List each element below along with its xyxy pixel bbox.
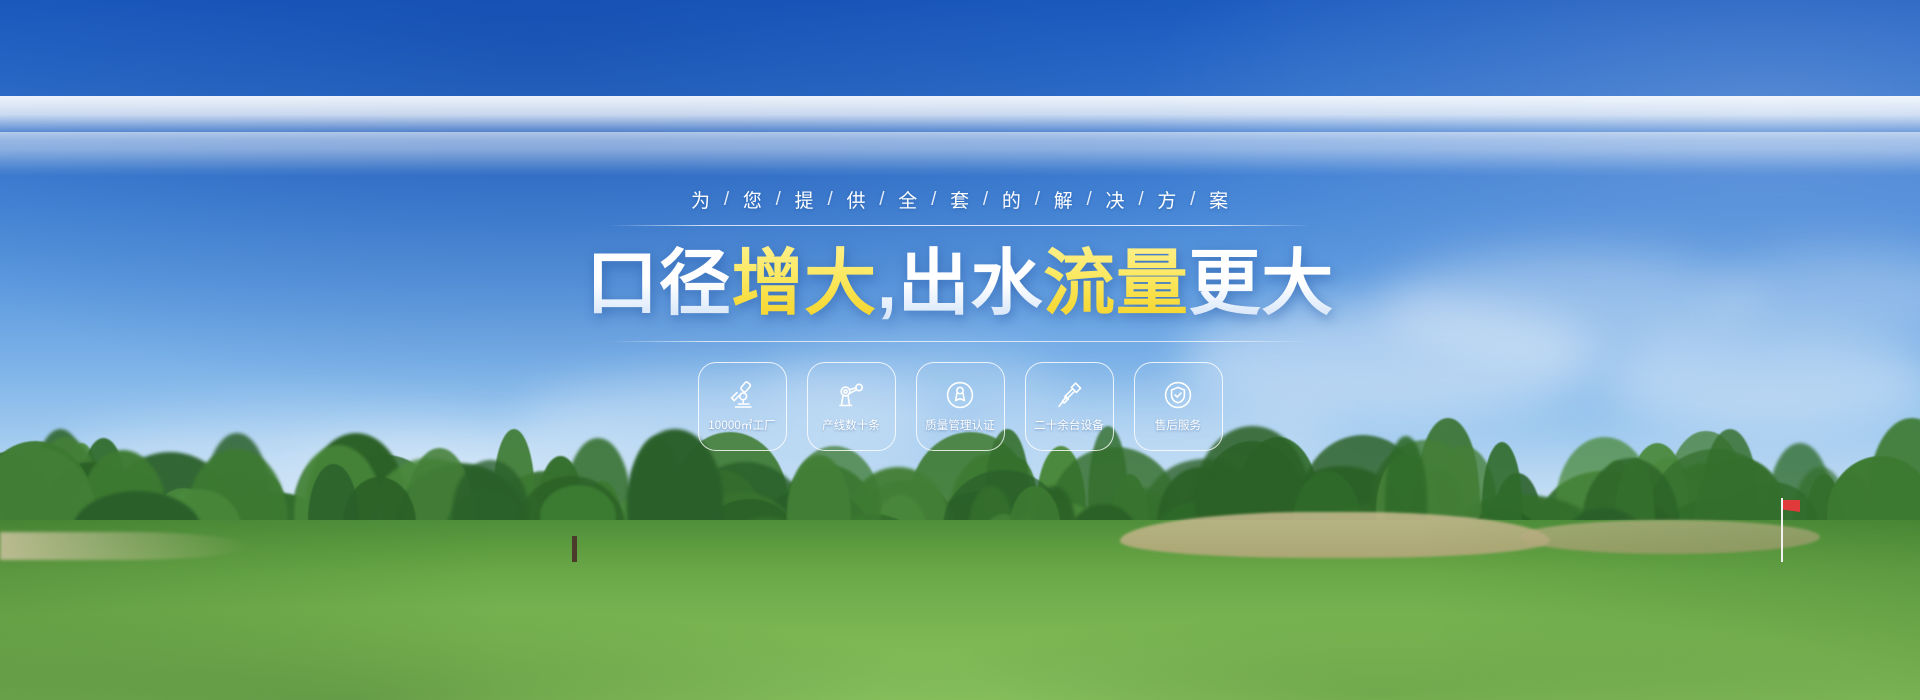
feature-badge-5[interactable]: 售后服务	[1134, 362, 1223, 451]
equipment-tool-icon	[1053, 379, 1085, 411]
hero-banner: INTEGRATED SEWAGE TREATMENT 为/您/提/供/全/套/…	[0, 0, 1920, 700]
subtitle-separator: /	[1138, 189, 1144, 211]
feature-badge-label: 质量管理认证	[925, 417, 995, 433]
certificate-medal-icon	[944, 379, 976, 411]
feature-badge-2[interactable]: 产线数十条	[807, 362, 896, 451]
english-heading: INTEGRATED SEWAGE TREATMENT	[0, 96, 1920, 178]
headline-segment: ,	[877, 244, 898, 325]
feature-badge-3[interactable]: 质量管理认证	[916, 362, 1005, 451]
feature-badge-label: 二十余台设备	[1034, 417, 1104, 433]
subtitle-char: 方	[1157, 186, 1177, 213]
subtitle-slash-line: 为/您/提/供/全/套/的/解/决/方/案	[691, 186, 1229, 213]
subtitle-char: 全	[898, 186, 918, 213]
subtitle-separator: /	[827, 189, 833, 211]
subtitle-separator: /	[1190, 189, 1196, 211]
headline-segment: 流量	[1043, 244, 1188, 325]
subtitle-separator: /	[724, 189, 730, 211]
shield-check-icon	[1162, 379, 1194, 411]
english-heading-line2: SEWAGE TREATMENT	[0, 132, 1920, 176]
banner-content: INTEGRATED SEWAGE TREATMENT 为/您/提/供/全/套/…	[0, 0, 1920, 700]
subtitle-separator: /	[776, 189, 782, 211]
feature-badge-label: 产线数十条	[822, 417, 880, 433]
headline-segment: 更大	[1189, 244, 1334, 325]
divider-top	[608, 225, 1312, 226]
subtitle-separator: /	[983, 189, 989, 211]
subtitle-char: 套	[950, 186, 970, 213]
subtitle-separator: /	[1035, 189, 1041, 211]
microscope-icon	[726, 379, 758, 411]
subtitle-separator: /	[931, 189, 937, 211]
subtitle-char: 决	[1106, 186, 1126, 213]
subtitle-separator: /	[1087, 189, 1093, 211]
subtitle-char: 提	[795, 186, 815, 213]
production-line-icon	[835, 379, 867, 411]
feature-badge-label: 10000㎡工厂	[708, 417, 775, 433]
subtitle-separator: /	[879, 189, 885, 211]
feature-badge-1[interactable]: 10000㎡工厂	[698, 362, 787, 451]
headline-segment: 增大	[731, 244, 876, 325]
feature-badge-4[interactable]: 二十余台设备	[1025, 362, 1114, 451]
feature-badge-list: 10000㎡工厂产线数十条质量管理认证二十余台设备售后服务	[698, 362, 1223, 451]
subtitle-char: 供	[846, 186, 866, 213]
page-title: 口径增大,出水流量更大	[586, 244, 1334, 325]
subtitle-char: 您	[743, 186, 763, 213]
divider-bottom	[608, 341, 1312, 342]
headline-segment: 口径	[586, 244, 731, 325]
subtitle-char: 案	[1209, 186, 1229, 213]
feature-badge-label: 售后服务	[1155, 417, 1201, 433]
subtitle-char: 解	[1054, 186, 1074, 213]
subtitle-char: 为	[691, 186, 711, 213]
subtitle-char: 的	[1002, 186, 1022, 213]
headline-segment: 出水	[898, 244, 1043, 325]
